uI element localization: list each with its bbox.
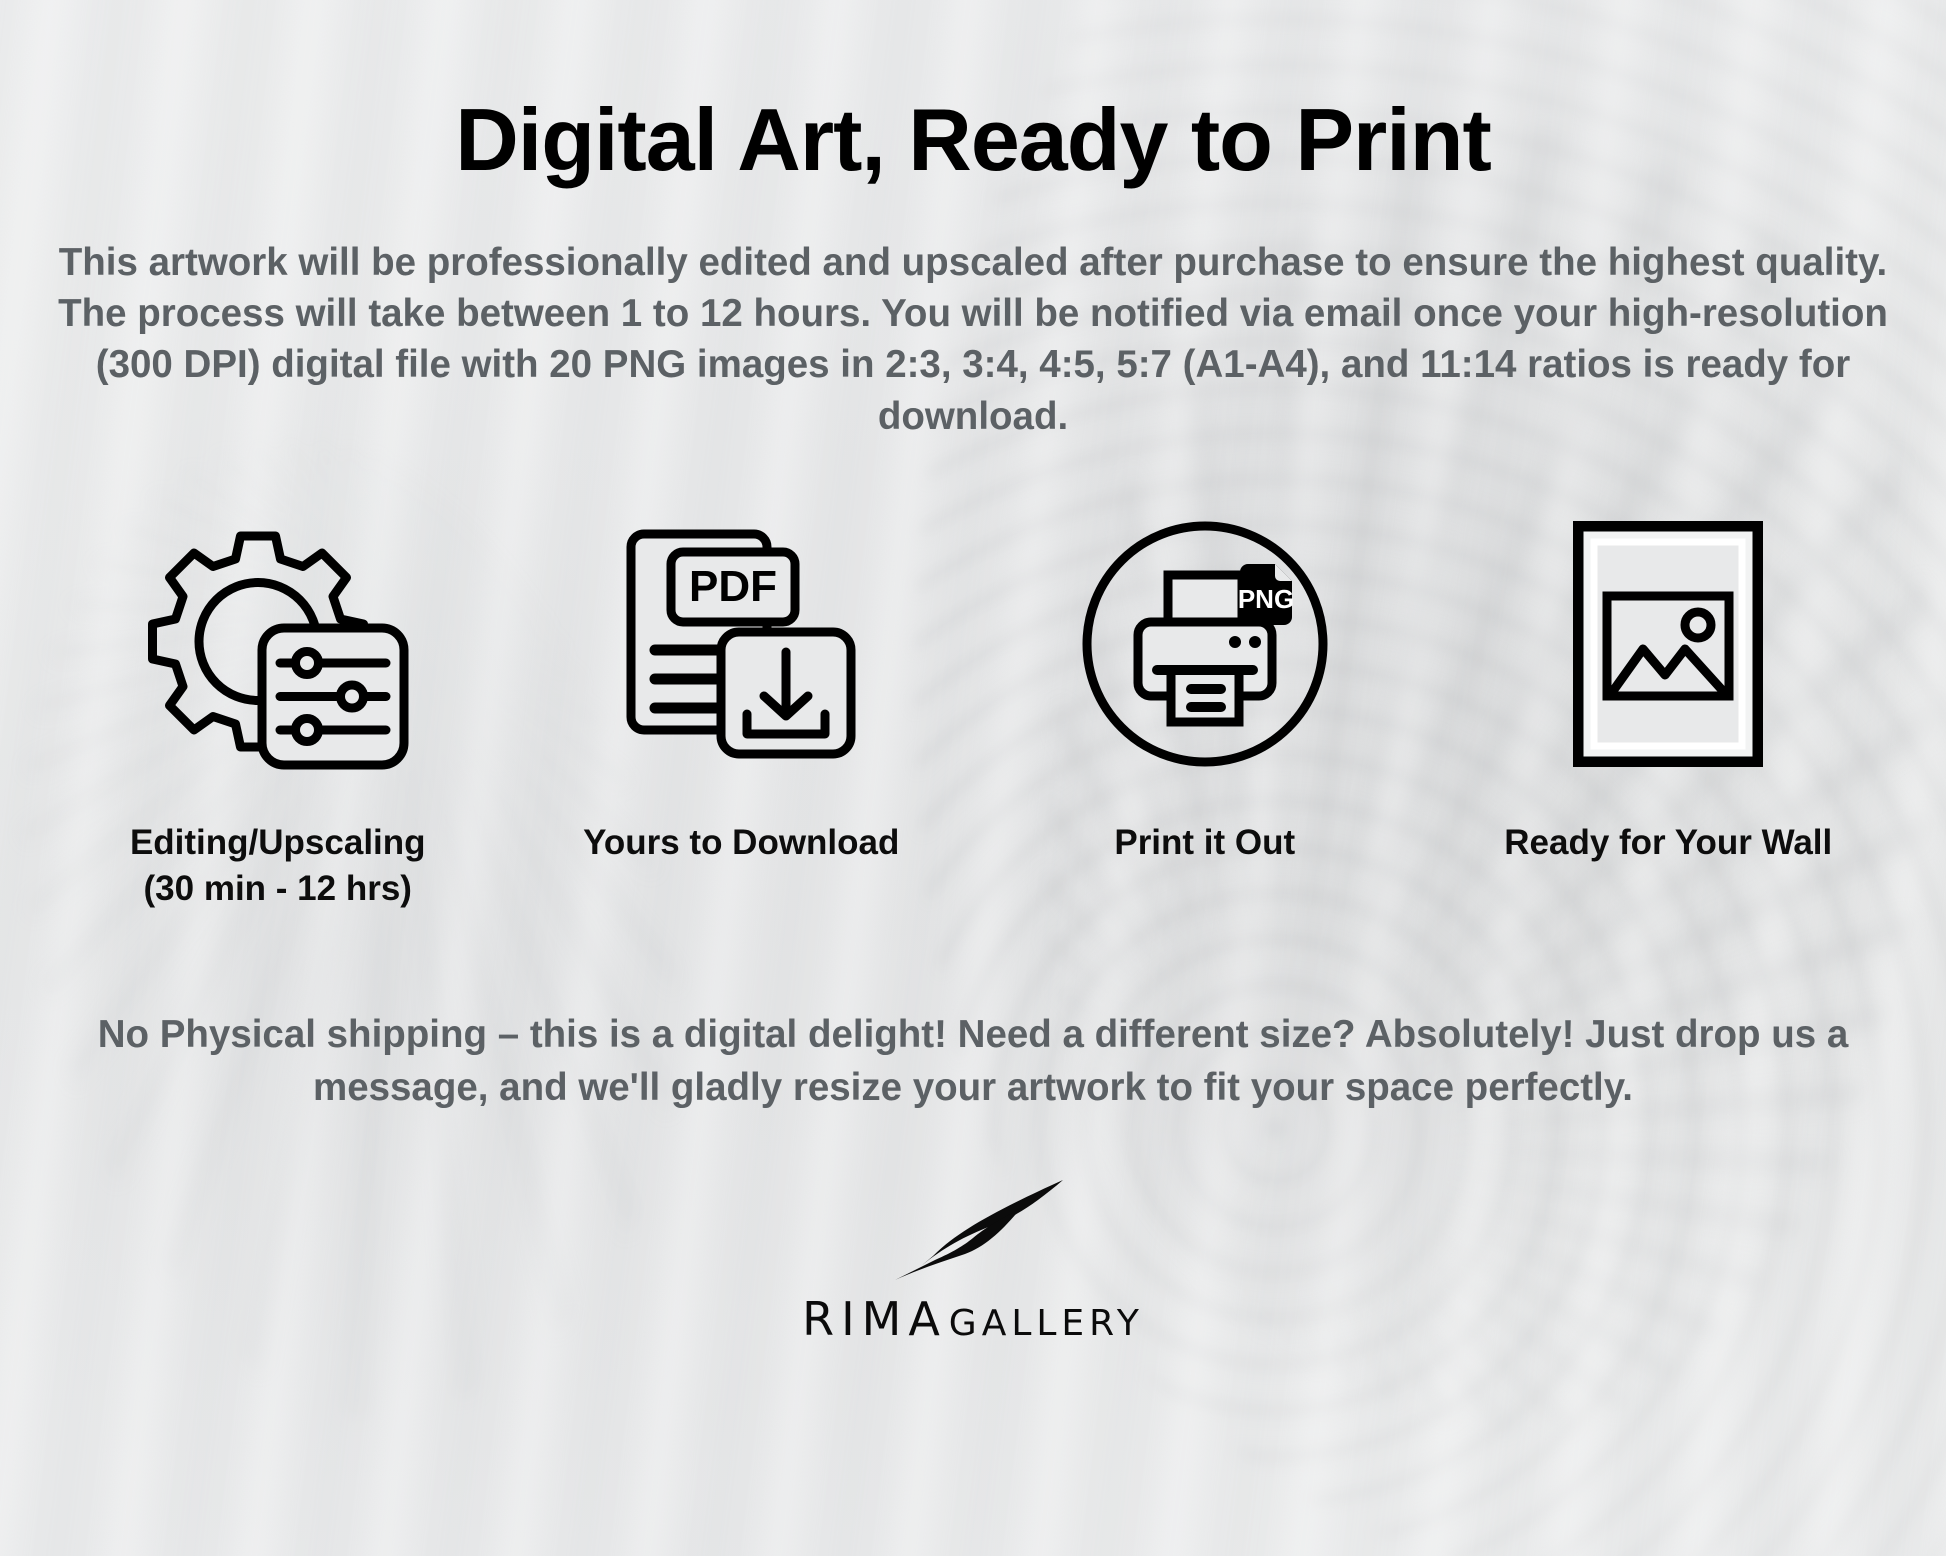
brand-wordmark: RIMA GALLERY <box>802 1292 1144 1346</box>
feature-label: Ready for Your Wall <box>1504 820 1832 866</box>
brand-name-primary: RIMA <box>802 1292 947 1346</box>
pdf-badge-label: PDF <box>689 562 777 611</box>
outro-paragraph: No Physical shipping – this is a digital… <box>58 1008 1888 1114</box>
printer-png-icon: PNG <box>1079 494 1331 794</box>
feature-item-editing-upscaling: Editing/Upscaling (30 min - 12 hrs) <box>46 494 510 912</box>
feature-row: Editing/Upscaling (30 min - 12 hrs) PDF <box>46 494 1900 912</box>
gear-sliders-icon <box>147 494 409 794</box>
intro-paragraph: This artwork will be professionally edit… <box>58 237 1888 442</box>
feature-label: Print it Out <box>1114 820 1295 866</box>
listing-info-card: Digital Art, Ready to Print This artwork… <box>0 0 1946 1556</box>
png-badge-label: PNG <box>1238 584 1294 614</box>
pdf-download-icon: PDF <box>625 494 857 794</box>
feature-item-print: PNG Print it Out <box>973 494 1437 866</box>
feature-label: Yours to Download <box>583 820 899 866</box>
page-title: Digital Art, Ready to Print <box>46 0 1900 187</box>
feature-label: Editing/Upscaling (30 min - 12 hrs) <box>130 820 426 912</box>
framed-picture-icon <box>1573 494 1763 794</box>
brand-logo: RIMA GALLERY <box>46 1176 1900 1346</box>
feature-item-wall: Ready for Your Wall <box>1437 494 1901 866</box>
feature-item-download: PDF Yours to Download <box>510 494 974 866</box>
rima-swoosh-logo-icon <box>873 1176 1073 1286</box>
brand-name-secondary: GALLERY <box>949 1303 1144 1344</box>
